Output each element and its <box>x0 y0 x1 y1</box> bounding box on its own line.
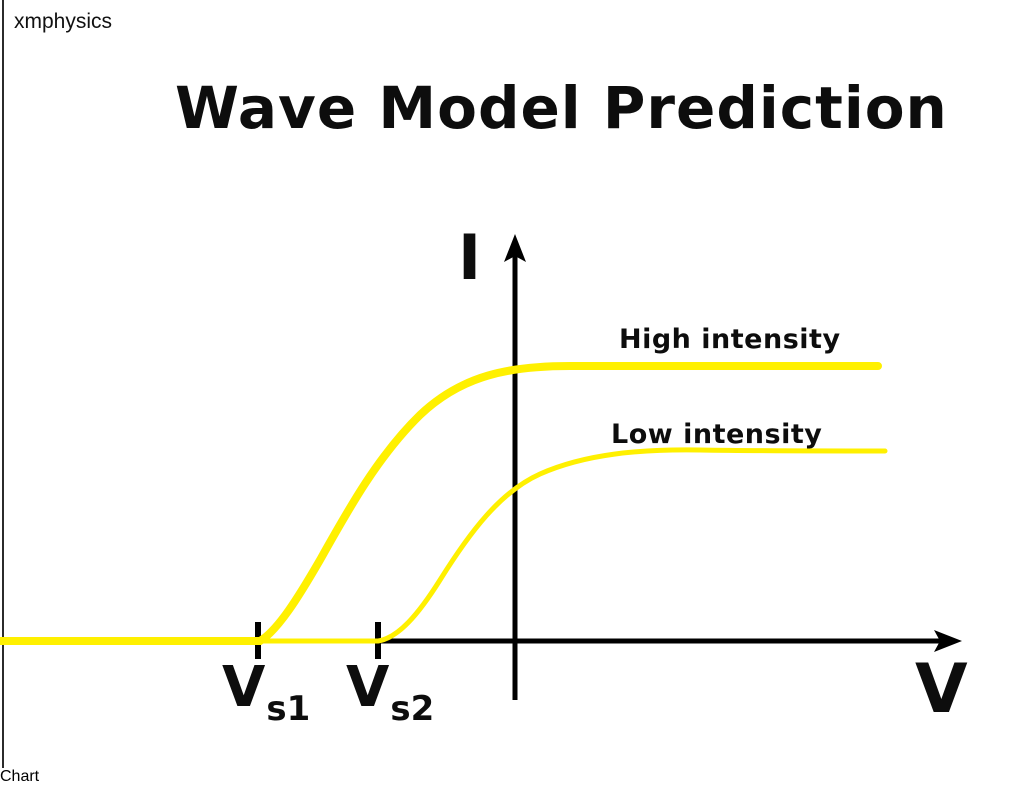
series-label-low-intensity: Low intensity <box>611 420 822 450</box>
x-axis-label: V <box>915 655 968 725</box>
tick-label-vs2-subscript: s2 <box>390 689 434 729</box>
slide-canvas: xmphysics Wave Model Prediction I V High… <box>0 0 1024 768</box>
low-intensity-curve <box>0 450 885 641</box>
series-label-high-intensity: High intensity <box>619 325 841 355</box>
tick-label-vs1-subscript: s1 <box>266 689 310 729</box>
tick-label-vs2-base: V <box>346 655 389 720</box>
tick-label-vs2: Vs2 <box>346 660 433 716</box>
photoelectric-iv-plot <box>0 0 1024 768</box>
tick-label-vs1: Vs1 <box>222 660 309 716</box>
tick-label-vs1-base: V <box>222 655 265 720</box>
y-axis-label: I <box>458 226 481 290</box>
x-axis <box>378 630 962 652</box>
y-axis <box>504 234 526 700</box>
high-intensity-curve <box>0 366 878 641</box>
